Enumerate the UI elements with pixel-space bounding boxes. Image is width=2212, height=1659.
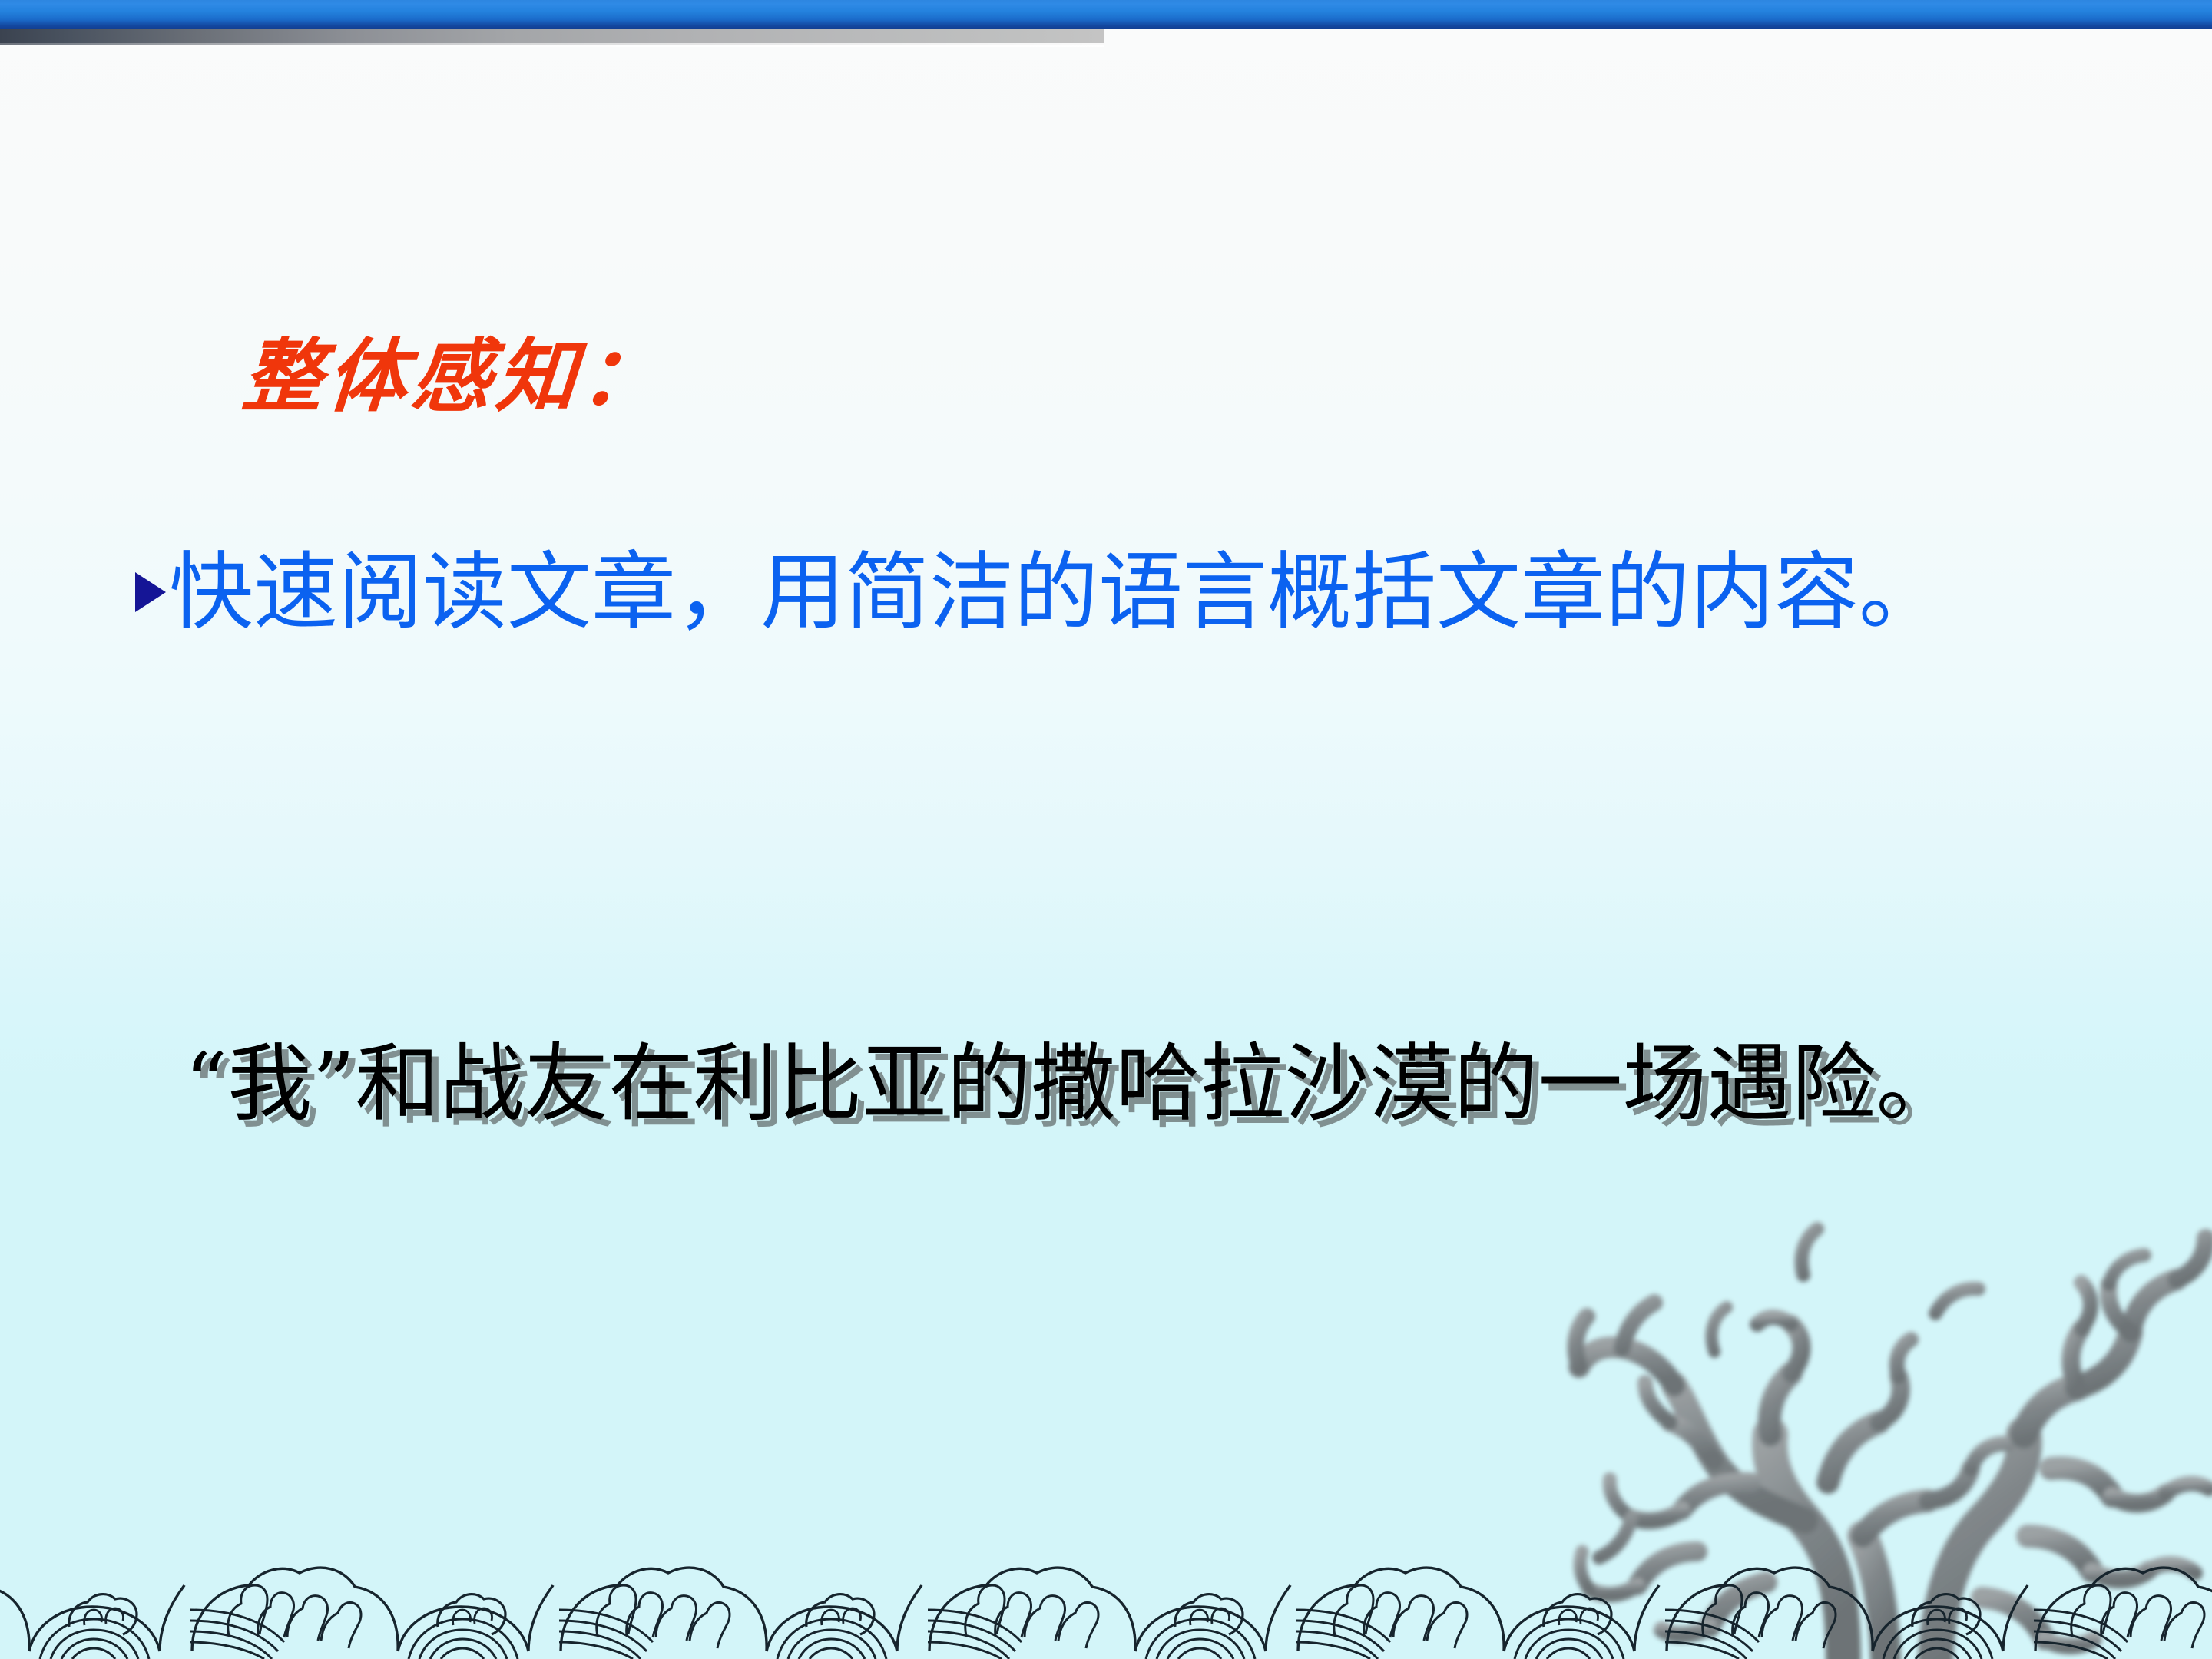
wave-border-decoration xyxy=(0,1544,2212,1659)
bullet-item-label: 快速阅读文章，用简洁的语言概括文章的内容。 xyxy=(169,550,1943,634)
top-blue-bar xyxy=(0,0,2212,29)
bullet-item: 快速阅读文章，用简洁的语言概括文章的内容。 xyxy=(135,550,1943,634)
top-grey-bar-highlight xyxy=(0,43,1104,47)
top-grey-bar xyxy=(0,29,1104,45)
summary-answer-text: “我”和战友在利比亚的撒哈拉沙漠的一场遇险。 xyxy=(184,1041,1960,1126)
triangle-right-icon xyxy=(135,572,166,612)
wave-pattern-tiles xyxy=(0,1568,2212,1659)
presentation-slide: 整体感知： 快速阅读文章，用简洁的语言概括文章的内容。 “我”和战友在利比亚的撒… xyxy=(0,0,2212,1659)
slide-title: 整体感知： xyxy=(240,330,668,422)
coral-branch-decoration xyxy=(1444,1121,2212,1659)
